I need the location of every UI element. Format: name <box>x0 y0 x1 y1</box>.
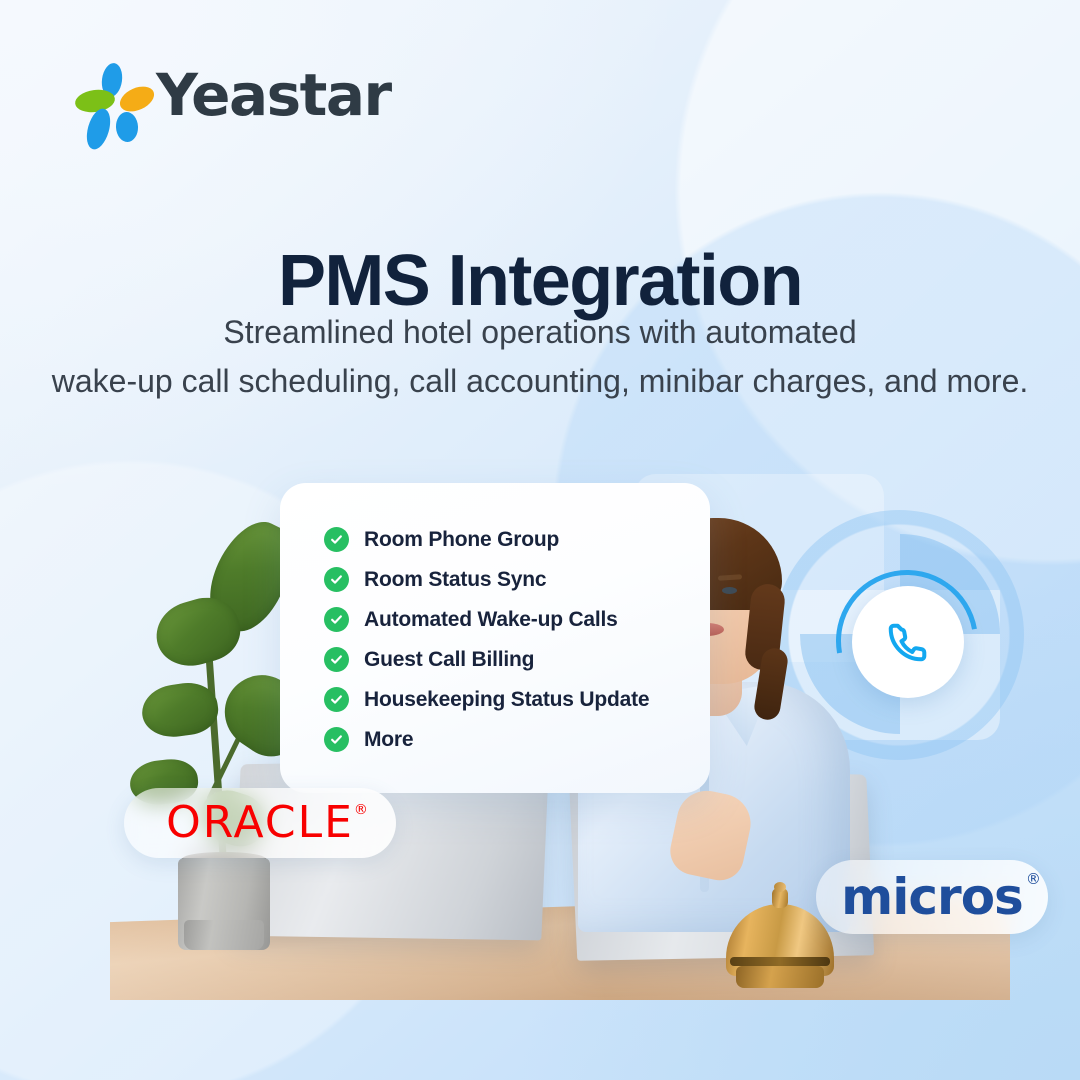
phone-handset-icon <box>885 619 931 665</box>
check-circle-icon <box>324 607 349 632</box>
feature-label: Housekeeping Status Update <box>364 688 649 712</box>
list-item: Housekeeping Status Update <box>324 687 710 712</box>
list-item: Room Phone Group <box>324 527 710 552</box>
feature-label: Guest Call Billing <box>364 648 534 672</box>
list-item: Room Status Sync <box>324 567 710 592</box>
page-subtitle: Streamlined hotel operations with automa… <box>0 308 1080 405</box>
poster-canvas: Yeastar PMS Integration Streamlined hote… <box>0 0 1080 1080</box>
registered-trademark-icon: ® <box>1026 872 1040 887</box>
bell-tip <box>774 882 786 892</box>
feature-label: More <box>364 728 413 752</box>
feature-label: Room Status Sync <box>364 568 546 592</box>
yeastar-petal-logo-icon <box>78 64 140 126</box>
check-circle-icon <box>324 527 349 552</box>
plant-pot-base <box>184 920 264 950</box>
phone-badge[interactable] <box>852 586 964 698</box>
list-item: More <box>324 727 710 752</box>
petal-left-icon <box>74 87 117 114</box>
oracle-label: ORACLE <box>166 797 354 848</box>
micros-label: micros <box>841 868 1023 926</box>
brand-logo[interactable]: Yeastar <box>78 64 391 126</box>
micros-wordmark: micros® <box>841 872 1023 922</box>
feature-list-card: Room Phone Group Room Status Sync Automa… <box>280 483 710 793</box>
petal-bottom-left-icon <box>83 106 115 152</box>
list-item: Guest Call Billing <box>324 647 710 672</box>
check-circle-icon <box>324 647 349 672</box>
registered-trademark-icon: ® <box>354 803 370 817</box>
check-circle-icon <box>324 567 349 592</box>
check-circle-icon <box>324 727 349 752</box>
feature-label: Room Phone Group <box>364 528 559 552</box>
list-item: Automated Wake-up Calls <box>324 607 710 632</box>
feature-label: Automated Wake-up Calls <box>364 608 618 632</box>
subtitle-line-2: wake-up call scheduling, call accounting… <box>0 357 1080 406</box>
subtitle-line-1: Streamlined hotel operations with automa… <box>0 308 1080 357</box>
petal-bottom-right-icon <box>115 111 139 142</box>
petal-right-icon <box>116 82 158 117</box>
bell-base <box>736 966 824 988</box>
partner-badge-micros[interactable]: micros® <box>816 860 1048 934</box>
bell-band <box>730 957 830 966</box>
brand-wordmark: Yeastar <box>156 66 391 124</box>
partner-badge-oracle[interactable]: ORACLE® <box>124 788 396 858</box>
eye-right <box>722 587 737 594</box>
oracle-wordmark: ORACLE® <box>166 801 354 845</box>
check-circle-icon <box>324 687 349 712</box>
